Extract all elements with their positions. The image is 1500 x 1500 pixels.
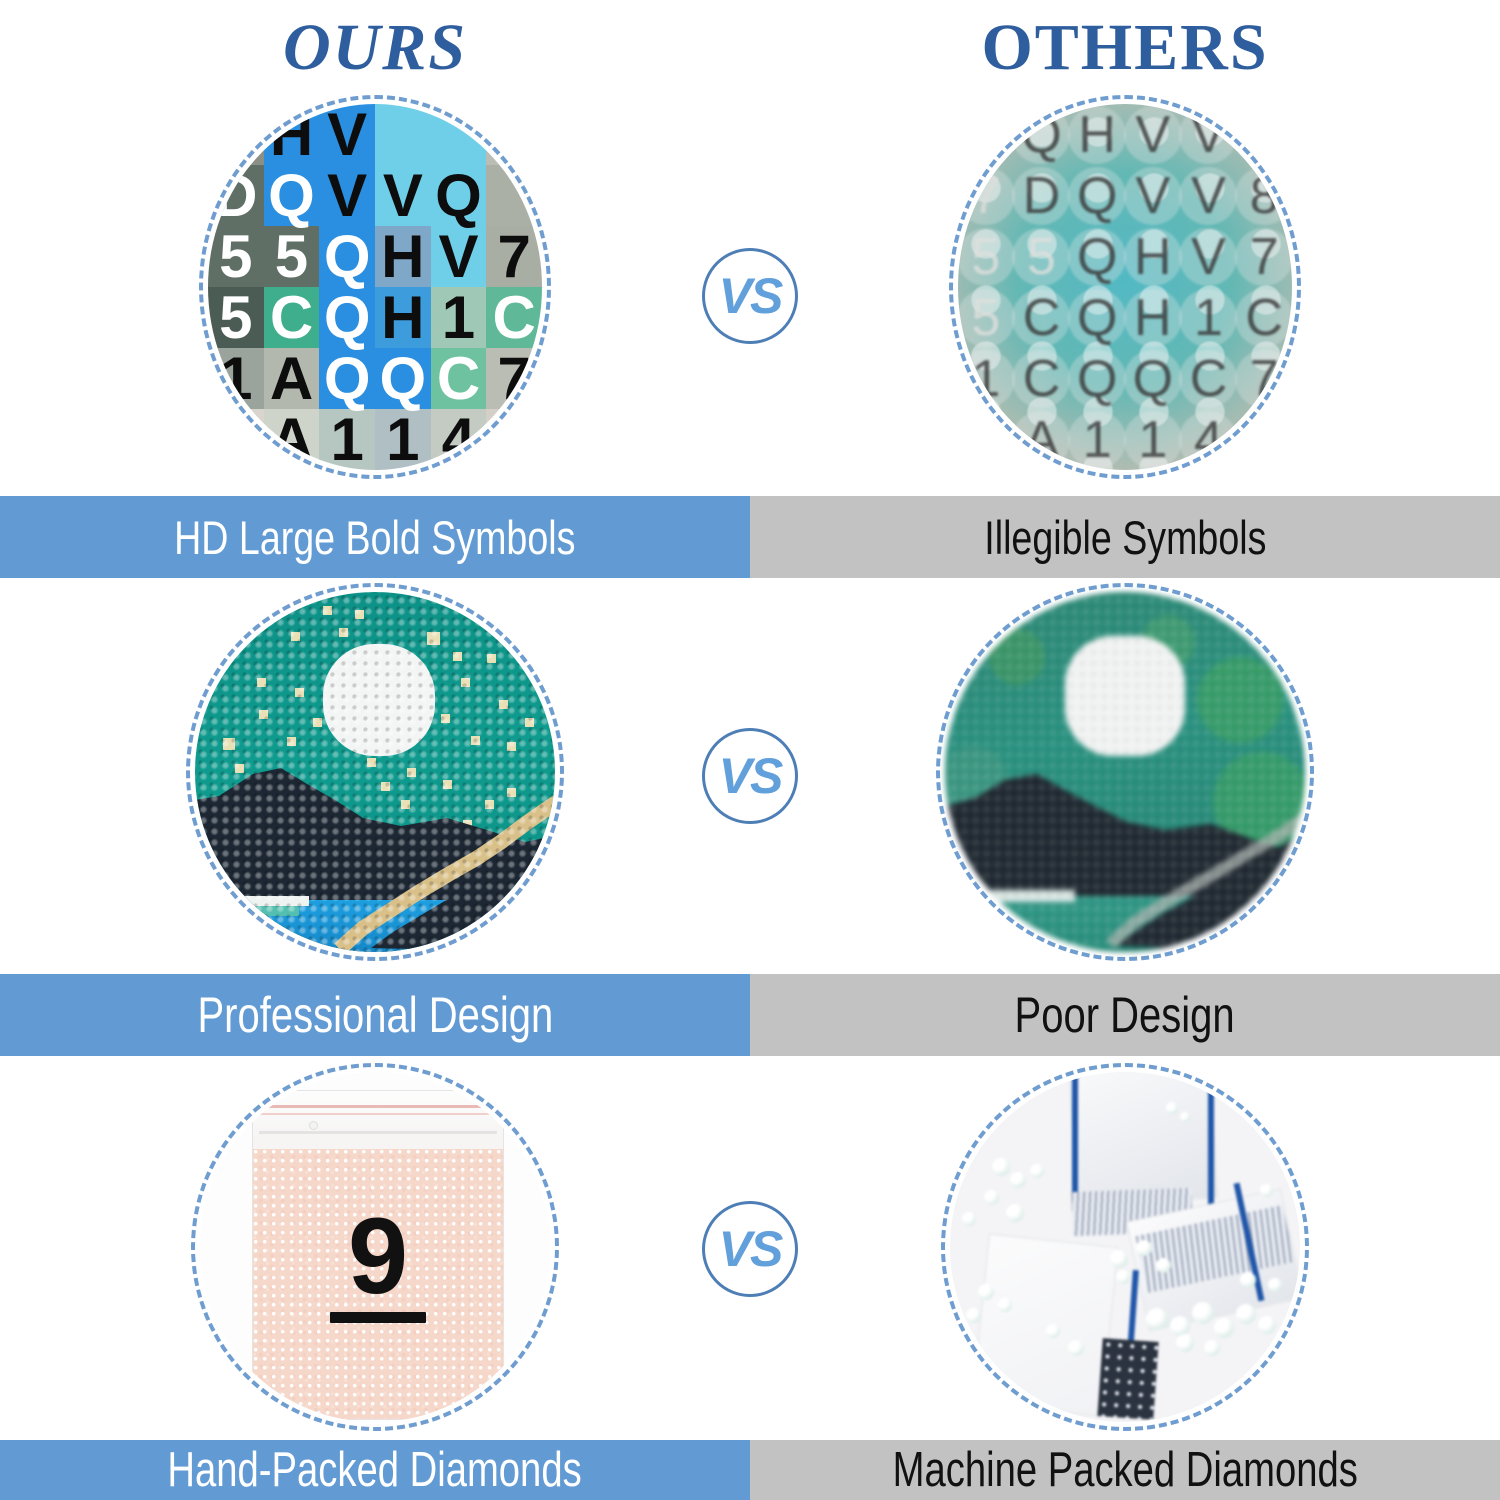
header: OURS OTHERS [0,0,1500,96]
dashed-ring-icon [199,95,551,479]
media-ours-symbols: H V D Q V V Q 5 5 Q H [0,96,750,496]
media-others-symbols: Q H V V 7 D Q V V 8 5 5 Q H [750,96,1500,496]
media-ours-design [0,578,750,974]
page-title-ours: OURS [283,15,467,81]
vs-label: VS [719,271,782,321]
dashed-ring-icon [941,1063,1309,1431]
media-others-design [750,578,1500,974]
label-bar-row-design: Professional Design Poor Design [0,974,1500,1056]
label-ours-packing: Hand-Packed Diamonds [0,1440,750,1500]
label-others-packing: Machine Packed Diamonds [750,1440,1500,1500]
label-others-design: Poor Design [750,974,1500,1056]
dashed-ring-icon [936,583,1314,961]
vs-badge-packing: VS [702,1201,798,1297]
label-bar-row-packing: Hand-Packed Diamonds Machine Packed Diam… [0,1440,1500,1500]
media-ours-packing: 9 [0,1056,750,1440]
label-ours-symbols: HD Large Bold Symbols [0,496,750,578]
label-others-symbols: Illegible Symbols [750,496,1500,578]
dashed-ring-icon [186,583,564,961]
vs-badge-symbols: VS [702,248,798,344]
label-ours-design: Professional Design [0,974,750,1056]
label-bar-row-symbols: HD Large Bold Symbols Illegible Symbols [0,496,1500,578]
dashed-ring-icon [191,1063,559,1431]
header-col-ours: OURS [0,0,750,96]
page-title-others: OTHERS [981,15,1268,81]
vs-label: VS [719,751,782,801]
vs-label: VS [719,1224,782,1274]
dashed-ring-icon [949,95,1301,479]
media-others-packing [750,1056,1500,1440]
row-packing: 9 VS [0,1056,1500,1440]
row-symbols: H V D Q V V Q 5 5 Q H [0,96,1500,496]
row-design: VS [0,578,1500,974]
header-col-others: OTHERS [750,0,1500,96]
vs-badge-design: VS [702,728,798,824]
comparison-infographic: OURS OTHERS [0,0,1500,1500]
